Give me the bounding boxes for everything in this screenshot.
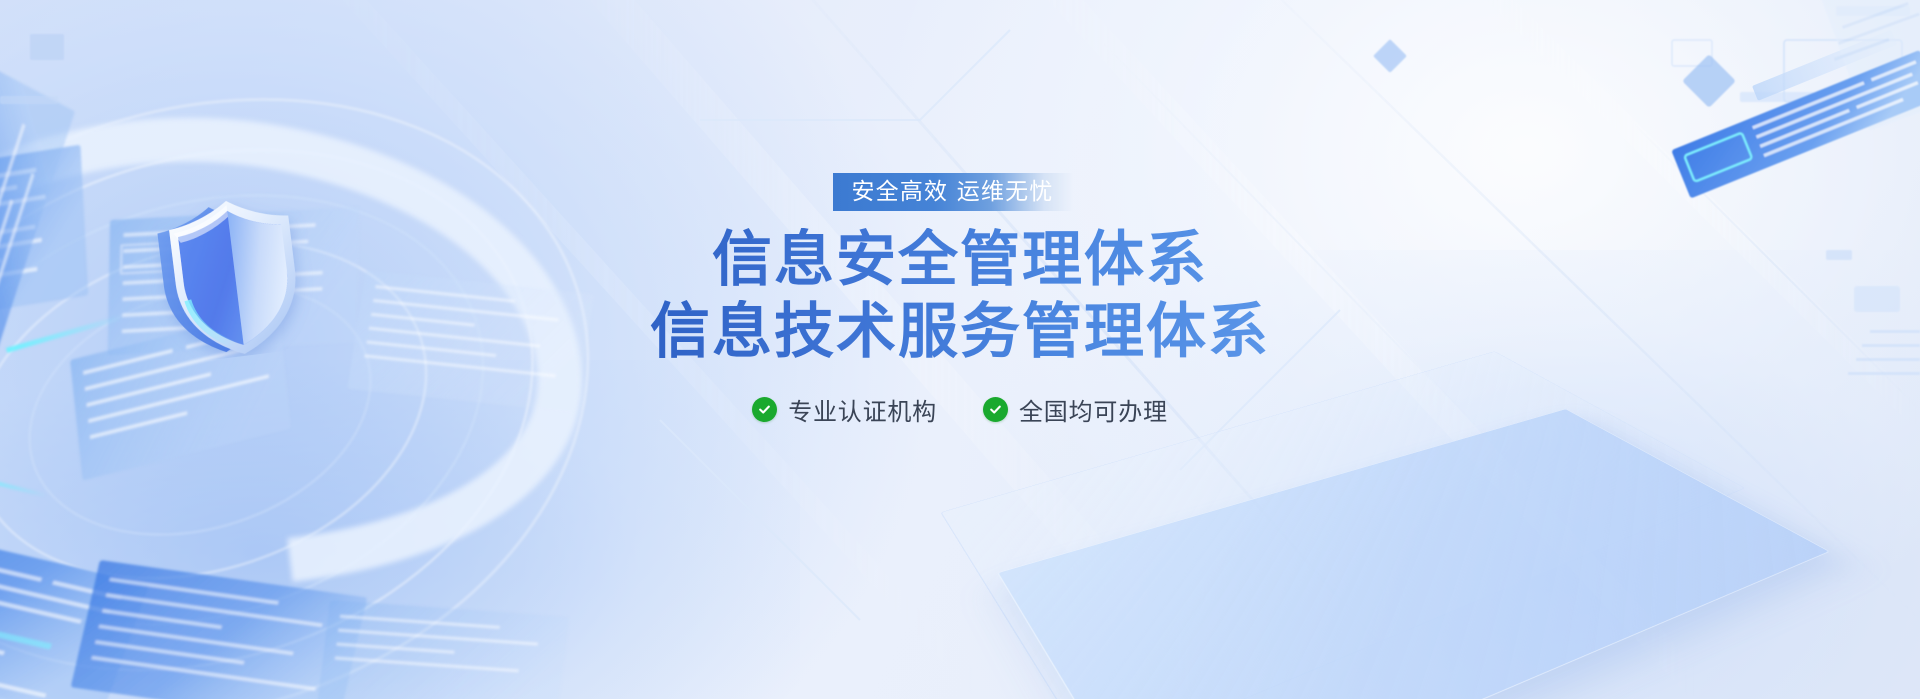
banner-content: 安全高效 运维无忧 信息安全管理体系 信息技术服务管理体系 专业认证机构 bbox=[0, 0, 1920, 699]
feature-item-1: 专业认证机构 bbox=[752, 392, 937, 427]
check-circle-icon bbox=[752, 397, 777, 422]
banner-title: 信息安全管理体系 信息技术服务管理体系 bbox=[650, 228, 1270, 365]
check-circle-icon bbox=[983, 397, 1008, 422]
hero-banner: 安全高效 运维无忧 信息安全管理体系 信息技术服务管理体系 专业认证机构 bbox=[0, 0, 1920, 699]
feature-item-2: 全国均可办理 bbox=[983, 392, 1168, 427]
feature-label-1: 专业认证机构 bbox=[788, 392, 937, 427]
feature-label-2: 全国均可办理 bbox=[1019, 392, 1168, 427]
title-line-2: 信息技术服务管理体系 bbox=[650, 300, 1270, 365]
tagline-badge: 安全高效 运维无忧 bbox=[833, 173, 1072, 211]
feature-list: 专业认证机构 全国均可办理 bbox=[752, 392, 1168, 427]
title-line-1: 信息安全管理体系 bbox=[650, 228, 1270, 293]
